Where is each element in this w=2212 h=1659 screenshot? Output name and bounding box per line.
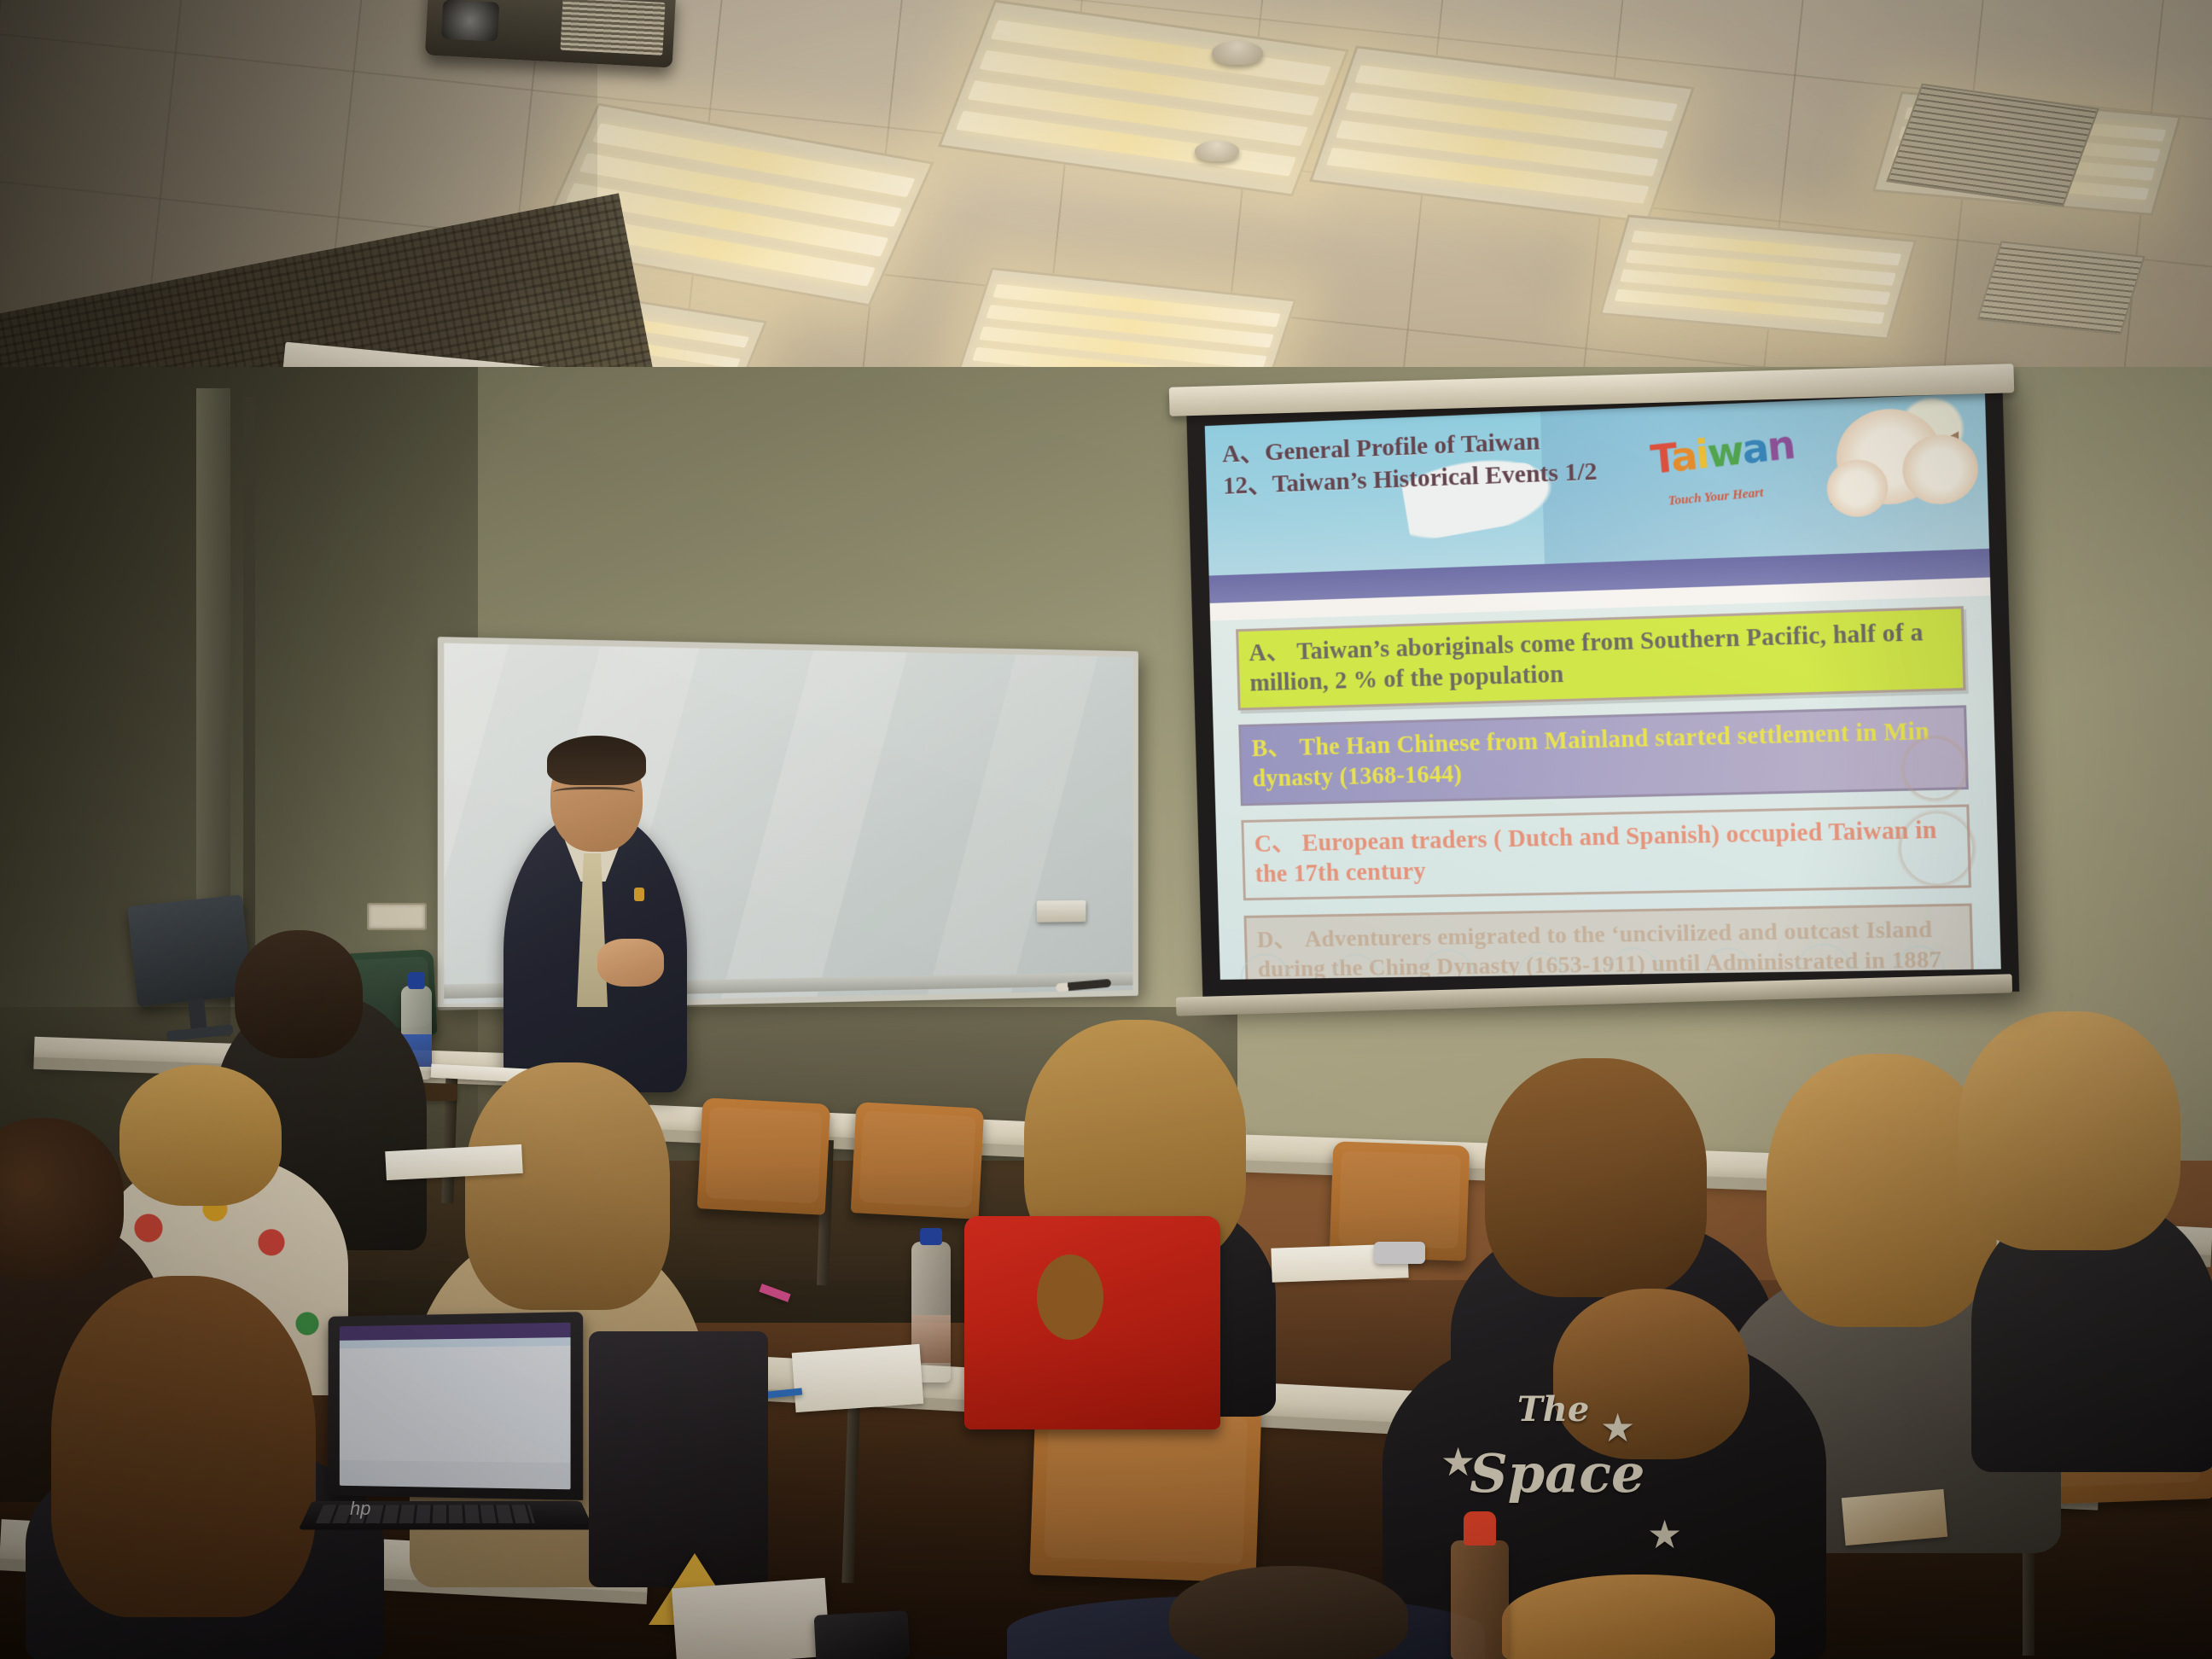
laptop-base: [299, 1501, 594, 1529]
dragon-medallion-decoration: [1885, 735, 1987, 919]
monitor-stand: [188, 998, 207, 1031]
logo-letter: w: [1706, 427, 1745, 477]
air-vent: [1976, 241, 2145, 335]
wall-power-socket[interactable]: [367, 903, 427, 930]
backpack[interactable]: [589, 1331, 768, 1587]
bottle-cap-red: [1464, 1511, 1496, 1545]
header-line1-number: A、: [1222, 437, 1266, 471]
star-icon: ★: [1441, 1442, 1476, 1481]
slide-bullet-box-c: C、European traders ( Dutch and Spanish) …: [1242, 804, 1971, 901]
presentation-slide: A、General Profile of Taiwan 12、Taiwan’s …: [1205, 393, 2001, 980]
presenter-glasses-icon: [553, 787, 635, 800]
header-line2-number: 12、: [1223, 469, 1273, 503]
presenter-hair: [547, 736, 646, 785]
desktop-monitor[interactable]: [127, 894, 253, 1006]
smoke-detector-icon: [1195, 141, 1239, 161]
slide-header: A、General Profile of Taiwan 12、Taiwan’s …: [1205, 393, 1989, 575]
bullet-label-c: C、: [1254, 829, 1302, 859]
bullet-text-c: European traders ( Dutch and Spanish) oc…: [1254, 817, 1937, 888]
smoke-detector-icon: [1212, 41, 1263, 65]
star-icon: ★: [1647, 1515, 1682, 1554]
projection-screen: A、General Profile of Taiwan 12、Taiwan’s …: [1186, 373, 2019, 1002]
laptop-screen[interactable]: [340, 1323, 571, 1490]
patterned-pouch[interactable]: [1842, 1489, 1947, 1545]
chair[interactable]: [851, 1102, 985, 1220]
bottle-cap: [408, 972, 425, 989]
presenter-lapel-pin: [634, 888, 644, 901]
projector-vent-grill: [560, 0, 665, 55]
slide-bullet-box-b: B、The Han Chinese from Mainland started …: [1238, 705, 1968, 806]
slide-bullet-box-a: A、Taiwan’s aboriginals come from Souther…: [1236, 606, 1965, 710]
slide-header-photo: [1540, 393, 1989, 563]
smartphone[interactable]: [814, 1610, 911, 1659]
logo-letter: n: [1766, 421, 1796, 470]
bullet-text-b: The Han Chinese from Mainland started se…: [1252, 718, 1930, 793]
projector-lens-icon: [441, 0, 499, 42]
chair-gap: [1037, 1254, 1103, 1340]
eyeglasses[interactable]: [1374, 1242, 1425, 1264]
laptop-brand-icon: hp: [350, 1498, 370, 1520]
blossom-icon: [1826, 459, 1889, 519]
sports-bottle-red[interactable]: [1451, 1540, 1509, 1659]
bullet-text-a: Taiwan’s aboriginals come from Southern …: [1249, 619, 1924, 696]
presenter-hands: [597, 939, 664, 987]
laptop-lid: [329, 1312, 584, 1500]
laptop-keyboard[interactable]: [316, 1505, 535, 1523]
lecture-hall-photo: A、General Profile of Taiwan 12、Taiwan’s …: [0, 0, 2212, 1659]
notebook-page[interactable]: [792, 1344, 924, 1412]
wave-pattern-decoration: [1219, 905, 2001, 980]
bottle-cap: [920, 1228, 942, 1245]
star-icon: ★: [1600, 1408, 1635, 1447]
whiteboard-eraser[interactable]: [1037, 900, 1086, 923]
bullet-label-a: A、: [1249, 637, 1297, 669]
chair[interactable]: [697, 1097, 831, 1215]
table-card[interactable]: [672, 1578, 830, 1659]
bullet-label-b: B、: [1251, 733, 1300, 765]
